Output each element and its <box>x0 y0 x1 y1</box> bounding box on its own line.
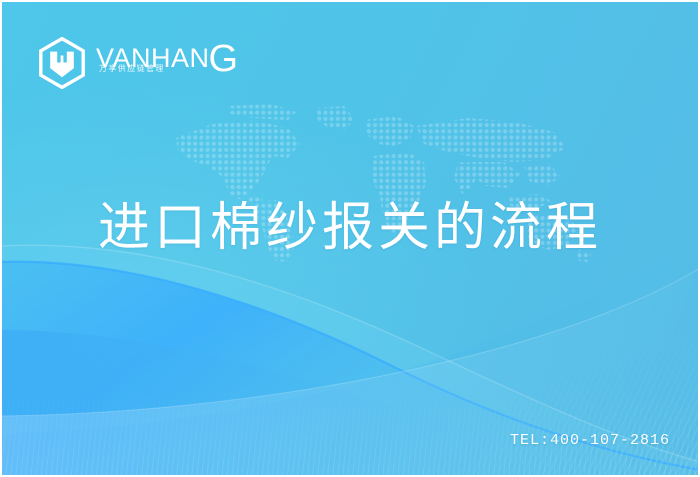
brand-logo: VANHANG 万享供应链管理 <box>36 37 239 89</box>
brand-tagline: 万享供应链管理 <box>99 63 165 74</box>
banner-slide: VANHANG 万享供应链管理 进口棉纱报关的流程 TEL:400-107-28… <box>0 0 700 477</box>
contact-phone: TEL:400-107-2816 <box>510 432 670 449</box>
page-title: 进口棉纱报关的流程 <box>0 197 700 259</box>
brand-wordmark: VANHANG 万享供应链管理 <box>96 43 239 83</box>
hexagon-u-logo-icon <box>36 37 88 89</box>
